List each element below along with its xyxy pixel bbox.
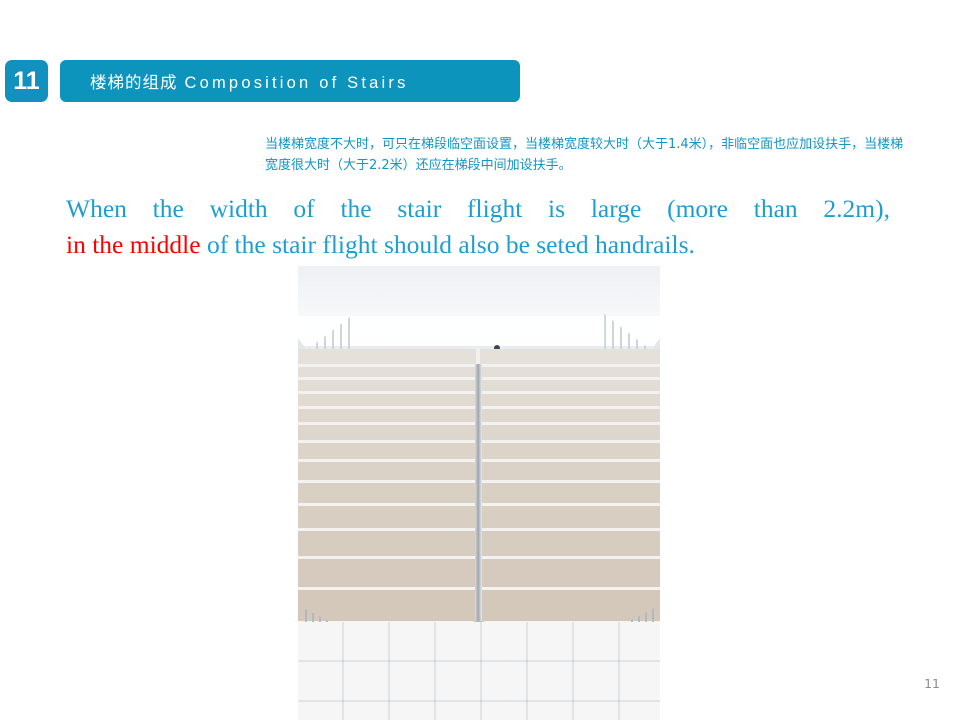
page-number: 11 bbox=[924, 676, 940, 691]
stairwell-photo bbox=[298, 266, 660, 720]
slide-title: 楼梯的组成Composition of Stairs bbox=[60, 69, 409, 93]
slide-title-english: Composition of Stairs bbox=[178, 74, 409, 92]
body-paragraph-chinese: 当楼梯宽度不大时，可只在梯段临空面设置，当楼梯宽度较大时（大于1.4米），非临空… bbox=[265, 134, 905, 176]
body-english-line-2-rest: of the stair flight should also be seted… bbox=[201, 230, 695, 259]
photo-center-handrail bbox=[475, 364, 482, 624]
section-number-badge: 11 bbox=[5, 60, 48, 102]
photo-floor-tiles bbox=[298, 622, 660, 720]
body-english-line-1: When the width of the stair flight is la… bbox=[66, 191, 890, 227]
photo-ceiling bbox=[298, 266, 660, 316]
slide-title-pill: 楼梯的组成Composition of Stairs bbox=[60, 60, 520, 102]
slide-title-chinese: 楼梯的组成 bbox=[90, 73, 178, 92]
body-english-highlight: in the middle bbox=[66, 230, 201, 259]
body-english-line-2: in the middle of the stair flight should… bbox=[66, 227, 890, 263]
body-paragraph-english: When the width of the stair flight is la… bbox=[66, 191, 890, 263]
